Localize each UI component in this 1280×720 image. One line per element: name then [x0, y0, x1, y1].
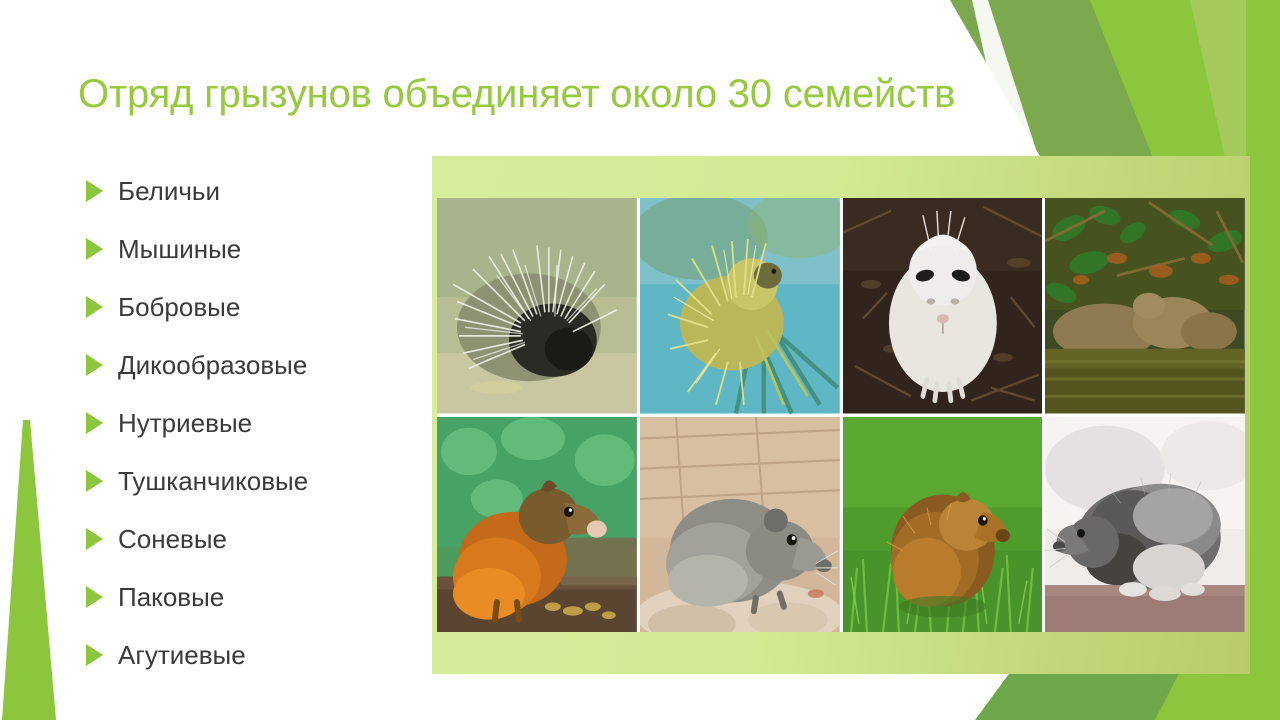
list-item: Паковые	[86, 568, 426, 626]
presentation-slide: Отряд грызунов объединяет около 30 семей…	[0, 0, 1280, 720]
family-list: Беличьи Мышиные Бобровые Дикообразовые Н…	[86, 162, 426, 684]
list-item: Соневые	[86, 510, 426, 568]
list-item-label: Мышиные	[118, 234, 241, 264]
list-item: Бобровые	[86, 278, 426, 336]
photo-porcupine-branch	[640, 198, 840, 414]
list-item: Дикообразовые	[86, 336, 426, 394]
triangle-right-icon	[86, 238, 103, 260]
deco-right-bar	[1246, 0, 1280, 720]
list-item-label: Паковые	[118, 582, 224, 612]
triangle-right-icon	[86, 180, 103, 202]
deco-shape-spike	[2, 420, 56, 720]
list-item-label: Нутриевые	[118, 408, 252, 438]
photo-gray-cavy	[640, 417, 840, 633]
photo-agouti	[437, 417, 637, 633]
list-item: Агутиевые	[86, 626, 426, 684]
photo-porcupine-quills	[437, 198, 637, 414]
rodent-photo-collage	[437, 198, 1245, 632]
list-item: Мышиные	[86, 220, 426, 278]
list-item-label: Тушканчиковые	[118, 466, 308, 496]
triangle-right-icon	[86, 354, 103, 376]
deco-shape-white-sliver	[972, 0, 1042, 168]
list-item-label: Соневые	[118, 524, 227, 554]
photo-nutria-grass	[843, 417, 1043, 633]
list-item: Беличьи	[86, 162, 426, 220]
list-item: Тушканчиковые	[86, 452, 426, 510]
deco-shape-green	[1090, 0, 1280, 175]
photo-chinchilla	[1045, 417, 1245, 633]
list-item-label: Беличьи	[118, 176, 220, 206]
photo-white-rodent	[843, 198, 1043, 414]
list-item-label: Агутиевые	[118, 640, 246, 670]
triangle-right-icon	[86, 644, 103, 666]
list-item-label: Дикообразовые	[118, 350, 307, 380]
list-item-label: Бобровые	[118, 292, 240, 322]
deco-shape-olive	[950, 0, 1280, 165]
triangle-right-icon	[86, 528, 103, 550]
triangle-right-icon	[86, 470, 103, 492]
page-title: Отряд грызунов объединяет около 30 семей…	[78, 68, 958, 120]
deco-shape-lightgreen	[1190, 0, 1280, 180]
list-item: Нутриевые	[86, 394, 426, 452]
photo-capybara-water	[1045, 198, 1245, 414]
triangle-right-icon	[86, 586, 103, 608]
triangle-right-icon	[86, 412, 103, 434]
deco-left-spike	[0, 420, 75, 720]
triangle-right-icon	[86, 296, 103, 318]
